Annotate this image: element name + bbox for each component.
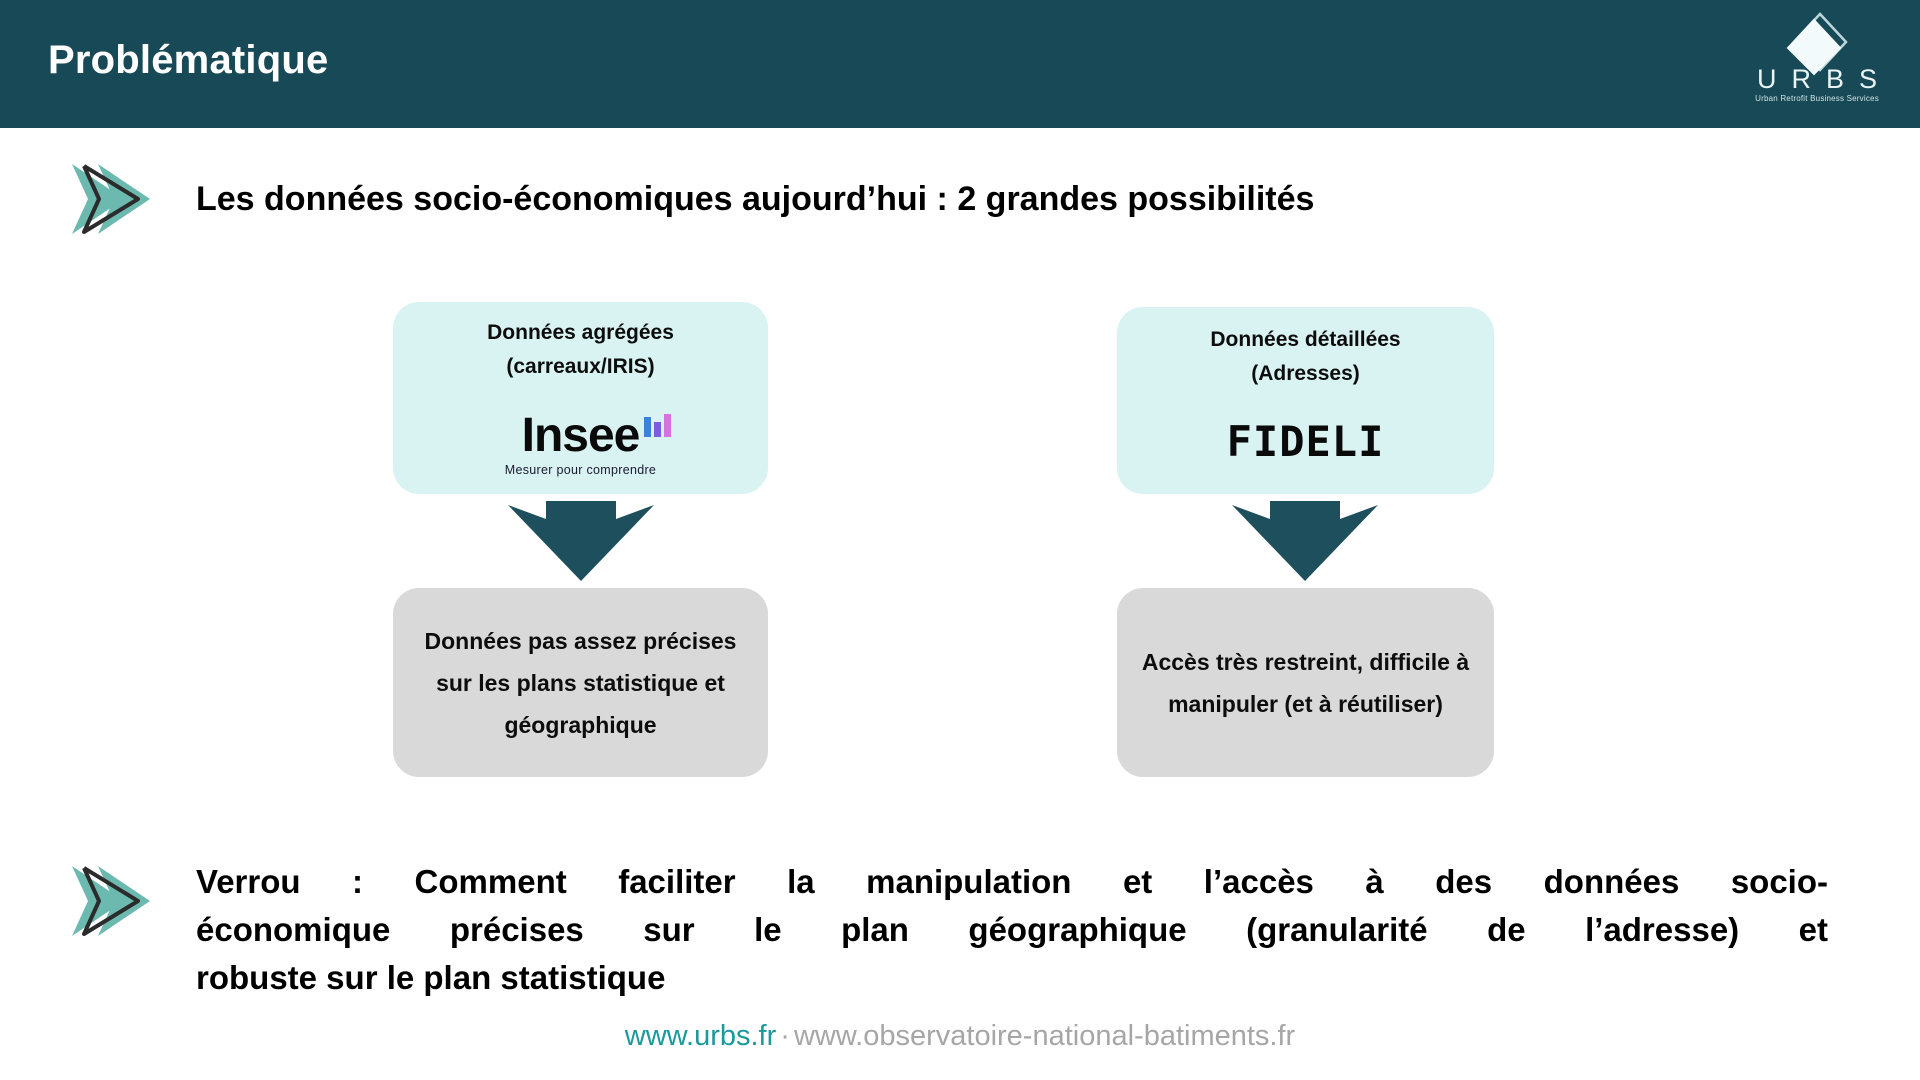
footer-separator: ·	[776, 1020, 794, 1052]
verrou-paragraph: Verrou : Comment faciliter la manipulati…	[196, 858, 1828, 1002]
insee-logo: Insee Mesurer pour comprendre	[393, 412, 768, 477]
headline-text: Les données socio-économiques aujourd’hu…	[196, 180, 1836, 219]
insee-wordmark-text: Insee	[522, 409, 640, 462]
verrou-line: économique précises sur le plan géograph…	[196, 906, 1828, 954]
down-arrow-icon	[1230, 499, 1380, 583]
down-arrow-icon	[506, 499, 656, 583]
source-box-detailed: Données détaillées (Adresses) FIDELI	[1117, 307, 1494, 494]
problem-box-aggregated: Données pas assez précises sur les plans…	[393, 588, 768, 777]
page-title: Problématique	[48, 38, 328, 83]
logo-wordmark: URBS	[1732, 64, 1902, 94]
source-label-line-2: (Adresses)	[1117, 357, 1494, 391]
footer-link-observatoire[interactable]: www.observatoire-national-batiments.fr	[794, 1020, 1295, 1052]
verrou-line: Verrou : Comment faciliter la manipulati…	[196, 858, 1828, 906]
problem-box-detailed: Accès très restreint, difficile à manipu…	[1117, 588, 1494, 777]
logo-tagline: Urban Retrofit Business Services	[1732, 94, 1902, 104]
source-label-line-2: (carreaux/IRIS)	[393, 350, 768, 384]
insee-wordmark: Insee	[522, 412, 640, 460]
urbs-logo: URBS Urban Retrofit Business Services	[1732, 8, 1902, 120]
source-box-aggregated: Données agrégées (carreaux/IRIS) Insee M…	[393, 302, 768, 494]
insee-tagline: Mesurer pour comprendre	[393, 463, 768, 477]
footer: www.urbs.fr·www.observatoire-national-ba…	[0, 1018, 1920, 1054]
chevron-arrow-bullet-icon	[68, 862, 156, 940]
problem-box-text: Accès très restreint, difficile à manipu…	[1139, 641, 1472, 725]
source-label-line-1: Données agrégées	[393, 302, 768, 350]
footer-link-urbs[interactable]: www.urbs.fr	[625, 1020, 776, 1052]
source-label-line-1: Données détaillées	[1117, 307, 1494, 357]
bar-chart-icon	[643, 413, 675, 437]
chevron-arrow-bullet-icon	[68, 160, 156, 238]
verrou-line: robuste sur le plan statistique	[196, 954, 1828, 1002]
fideli-wordmark: FIDELI	[1117, 417, 1494, 466]
problem-box-text: Données pas assez précises sur les plans…	[415, 620, 746, 746]
